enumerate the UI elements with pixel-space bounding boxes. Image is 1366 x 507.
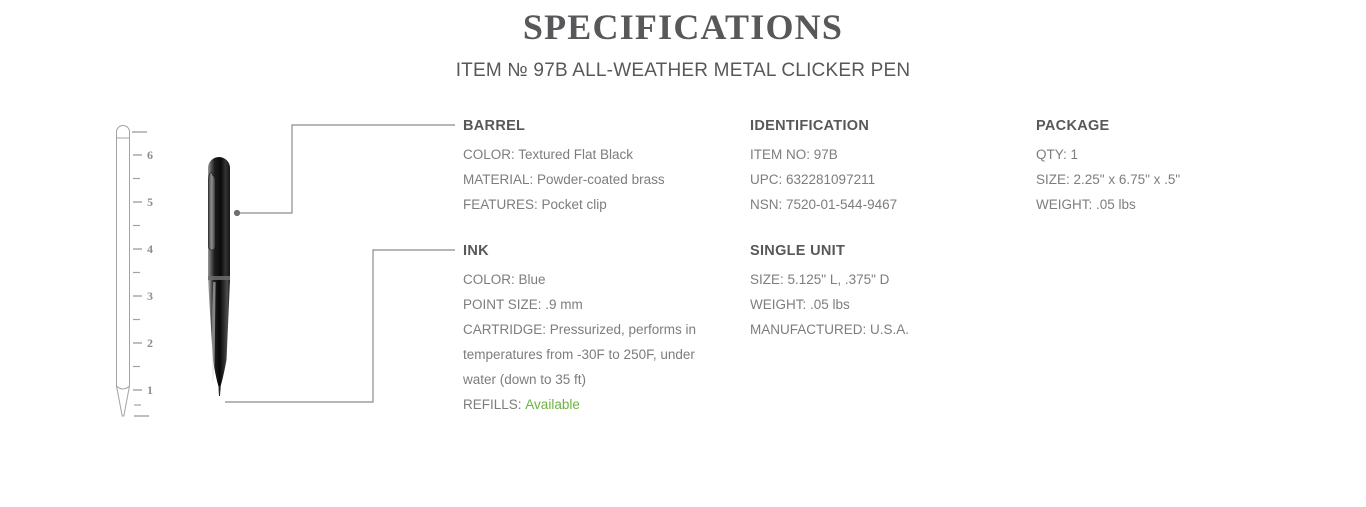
page-title: SPECIFICATIONS xyxy=(0,6,1366,48)
spec-line-ink-cartridge: CARTRIDGE: Pressurized, performs in temp… xyxy=(463,317,725,392)
scale-label-6: 6 xyxy=(147,148,153,162)
spec-line-ink-color: COLOR: Blue xyxy=(463,267,725,292)
scale-label-1: 1 xyxy=(147,383,153,397)
spec-line-nsn: NSN: 7520-01-544-9467 xyxy=(750,192,897,217)
page-subtitle: ITEM № 97B ALL-WEATHER METAL CLICKER PEN xyxy=(0,58,1366,84)
spec-line-unit-weight: WEIGHT: .05 lbs xyxy=(750,292,909,317)
spec-heading-barrel: BARREL xyxy=(463,117,665,135)
leader-line-barrel xyxy=(237,125,455,213)
spec-heading-package: PACKAGE xyxy=(1036,117,1180,135)
callout-leader-lines xyxy=(225,115,470,415)
scale-label-4: 4 xyxy=(147,242,153,256)
pen-outline-cap xyxy=(117,126,130,139)
spec-block-ink: INK COLOR: Blue POINT SIZE: .9 mm CARTRI… xyxy=(463,242,725,417)
scale-label-5: 5 xyxy=(147,195,153,209)
spec-line-package-weight: WEIGHT: .05 lbs xyxy=(1036,192,1180,217)
pocket-clip xyxy=(209,172,216,250)
leader-line-ink xyxy=(225,250,455,402)
scale-label-2: 2 xyxy=(147,336,153,350)
spec-line-ink-point-size: POINT SIZE: .9 mm xyxy=(463,292,725,317)
scale-label-3: 3 xyxy=(147,289,153,303)
spec-line-ink-refills: REFILLS: Available xyxy=(463,392,725,417)
spec-label-refills: REFILLS: xyxy=(463,397,522,412)
spec-block-package: PACKAGE QTY: 1 SIZE: 2.25" x 6.75" x .5"… xyxy=(1036,117,1180,217)
spec-line-item-no: ITEM NO: 97B xyxy=(750,142,897,167)
spec-block-barrel: BARREL COLOR: Textured Flat Black MATERI… xyxy=(463,117,665,217)
spec-line-upc: UPC: 632281097211 xyxy=(750,167,897,192)
spec-heading-ink: INK xyxy=(463,242,725,260)
spec-line-package-qty: QTY: 1 xyxy=(1036,142,1180,167)
pen-scale-diagram: 6 5 4 3 2 1 xyxy=(100,120,180,420)
pen-outline-tip xyxy=(117,386,130,416)
spec-block-identification: IDENTIFICATION ITEM NO: 97B UPC: 6322810… xyxy=(750,117,897,217)
spec-line-barrel-material: MATERIAL: Powder-coated brass xyxy=(463,167,665,192)
spec-heading-single-unit: SINGLE UNIT xyxy=(750,242,909,260)
spec-value-refills-available: Available xyxy=(525,397,580,412)
pen-outline-shoulder xyxy=(117,386,130,389)
pen-tip xyxy=(218,386,221,396)
spec-line-barrel-color: COLOR: Textured Flat Black xyxy=(463,142,665,167)
spec-line-barrel-features: FEATURES: Pocket clip xyxy=(463,192,665,217)
spec-line-unit-size: SIZE: 5.125" L, .375" D xyxy=(750,267,909,292)
spec-block-single-unit: SINGLE UNIT SIZE: 5.125" L, .375" D WEIG… xyxy=(750,242,909,342)
spec-line-unit-manufactured: MANUFACTURED: U.S.A. xyxy=(750,317,909,342)
pen-barrel xyxy=(208,280,230,388)
spec-line-package-size: SIZE: 2.25" x 6.75" x .5" xyxy=(1036,167,1180,192)
pen-product-image xyxy=(196,148,248,396)
spec-heading-identification: IDENTIFICATION xyxy=(750,117,897,135)
